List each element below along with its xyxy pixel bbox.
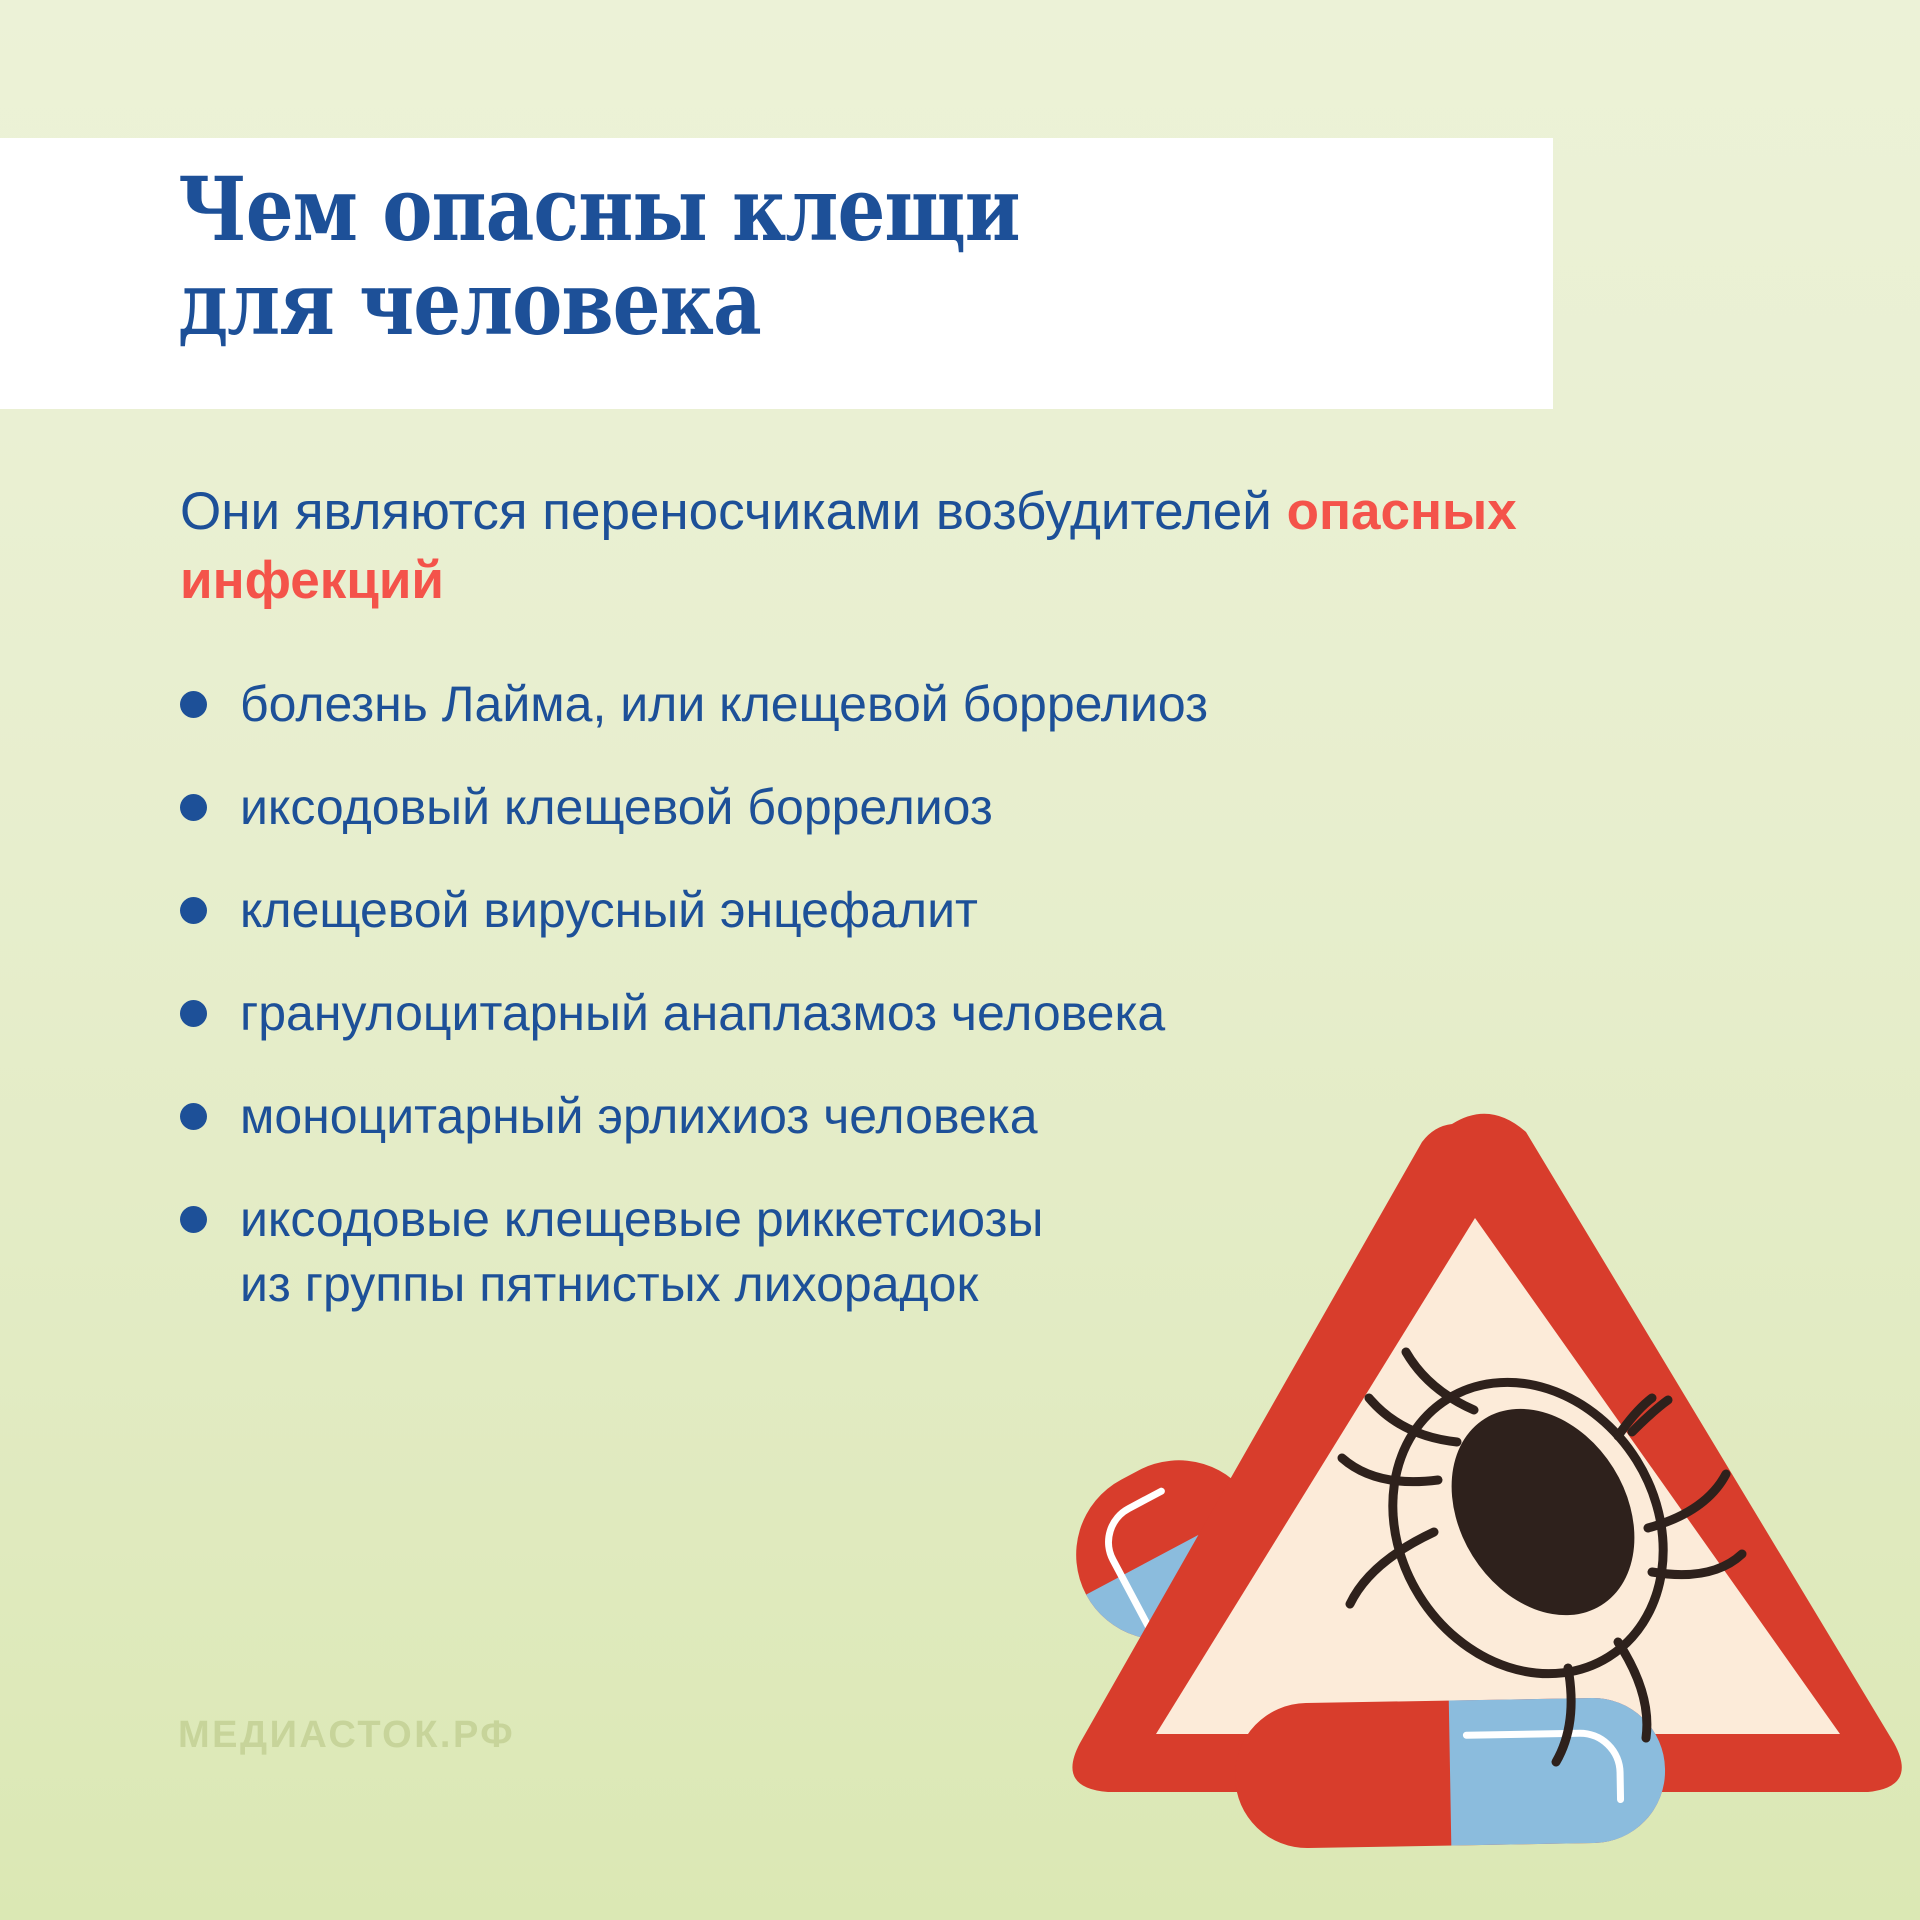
- list-item-label: моноцитарный эрлихиоз человека: [240, 1084, 1038, 1149]
- illustration-group: [1020, 1080, 1920, 1920]
- title-band: Чем опасны клещи для человека: [0, 138, 1553, 409]
- list-item-label: клещевой вирусный энцефалит: [240, 878, 978, 943]
- page-title: Чем опасны клещи для человека: [178, 162, 1432, 350]
- list-item-label: болезнь Лайма, или клещевой боррелиоз: [240, 672, 1208, 737]
- intro-lead-text: Они являются переносчиками возбудителей: [180, 482, 1287, 541]
- intro-paragraph: Они являются переносчиками возбудителей …: [180, 478, 1560, 616]
- poster-canvas: Чем опасны клещи для человека Они являют…: [0, 0, 1920, 1920]
- bullet-dot-icon: [180, 691, 207, 718]
- list-item: иксодовый клещевой боррелиоз: [180, 775, 1520, 840]
- bullet-dot-icon: [180, 1000, 207, 1027]
- bullet-dot-icon: [180, 897, 207, 924]
- list-item-label: иксодовые клещевые риккетсиозы из группы…: [240, 1187, 1043, 1317]
- capsule-horizontal-icon: [1234, 1697, 1666, 1849]
- list-item: гранулоцитарный анаплазмоз человека: [180, 981, 1520, 1046]
- list-item-label: гранулоцитарный анаплазмоз человека: [240, 981, 1165, 1046]
- bullet-dot-icon: [180, 1206, 207, 1233]
- list-item: клещевой вирусный энцефалит: [180, 878, 1520, 943]
- bullet-dot-icon: [180, 794, 207, 821]
- list-item-label: иксодовый клещевой боррелиоз: [240, 775, 993, 840]
- watermark-label: МЕДИАСТОК.РФ: [178, 1714, 515, 1757]
- list-item: болезнь Лайма, или клещевой боррелиоз: [180, 672, 1520, 737]
- bullet-dot-icon: [180, 1103, 207, 1130]
